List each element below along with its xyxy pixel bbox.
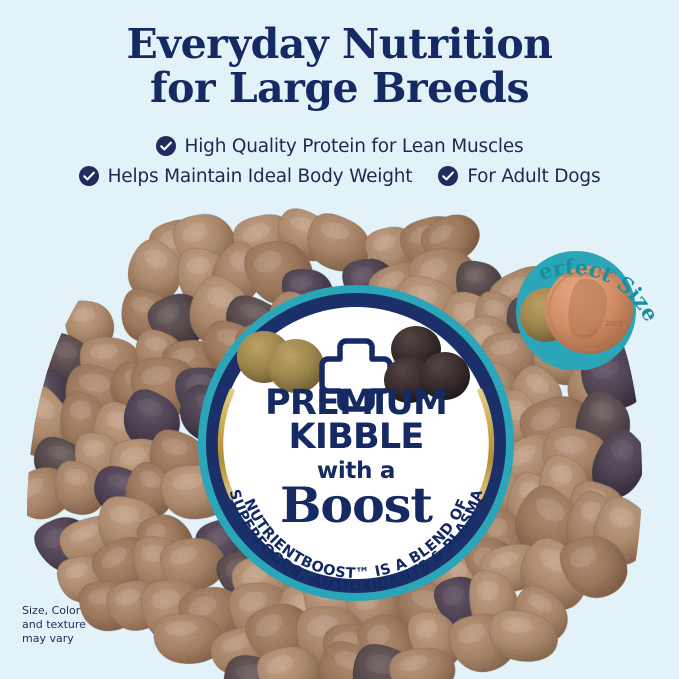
bullet-label: Helps Maintain Ideal Body Weight <box>108 166 413 187</box>
disclaimer-text: Size, Color and texture may vary <box>22 604 142 646</box>
product-marketing-image: Everyday Nutrition for Large Breeds High… <box>0 0 679 679</box>
headline: Everyday Nutrition for Large Breeds <box>0 22 679 110</box>
disclaimer-line-1: Size, Color <box>22 604 142 618</box>
premium-kibble-badge: NUTRIENTBOOST™ IS A BLEND OF SUPERFOODS,… <box>196 283 516 603</box>
disclaimer-line-2: and texture <box>22 618 142 632</box>
perfect-size-callout: IN GOD WE TRUST 2008 Perfect Size! <box>496 205 671 370</box>
bullet-label: High Quality Protein for Lean Muscles <box>185 136 524 157</box>
disclaimer-line-3: may vary <box>22 632 142 646</box>
check-circle-icon <box>438 166 458 186</box>
headline-line-1: Everyday Nutrition <box>127 20 553 68</box>
check-circle-icon <box>156 136 176 156</box>
bullet-item-weight: Helps Maintain Ideal Body Weight <box>79 166 413 187</box>
bullet-row-2: Helps Maintain Ideal Body Weight For Adu… <box>0 161 679 191</box>
check-circle-icon <box>79 166 99 186</box>
coin-year: 2008 <box>605 320 623 328</box>
benefit-bullets: High Quality Protein for Lean Muscles He… <box>0 131 679 191</box>
bullet-label: For Adult Dogs <box>467 166 600 187</box>
bullet-row-1: High Quality Protein for Lean Muscles <box>0 131 679 161</box>
headline-line-2: for Large Breeds <box>0 66 679 110</box>
bullet-item-adult: For Adult Dogs <box>438 166 600 187</box>
bullet-item-protein: High Quality Protein for Lean Muscles <box>156 136 524 157</box>
